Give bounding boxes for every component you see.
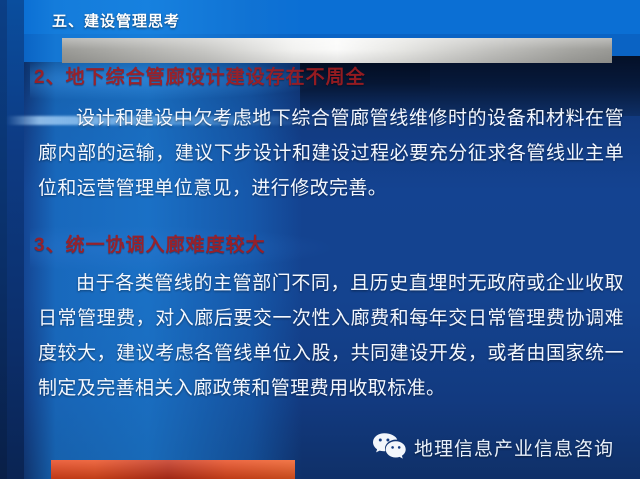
background-left-rail-edge <box>0 0 7 479</box>
section-heading-3: 3、统一协调入廊难度较大 <box>34 230 266 257</box>
watermark: 地理信息产业信息咨询 <box>372 432 614 462</box>
bottom-accent-bar <box>51 460 295 479</box>
watermark-text: 地理信息产业信息咨询 <box>414 434 614 461</box>
presentation-slide: 五、建设管理思考 2、地下综合管廊设计建设存在不周全 设计和建设中欠考虑地下综合… <box>0 0 640 479</box>
section-body-3: 由于各类管线的主管部门不同，且历史直埋时无政府或企业收取日常管理费，对入廊后要交… <box>38 266 624 406</box>
title-divider-bar <box>62 38 612 63</box>
wechat-icon <box>372 432 406 462</box>
section-heading-2: 2、地下综合管廊设计建设存在不周全 <box>34 62 366 89</box>
slide-title: 五、建设管理思考 <box>52 10 180 31</box>
section-body-2: 设计和建设中欠考虑地下综合管廊管线维修时的设备和材料在管廊内部的运输，建议下步设… <box>38 101 624 206</box>
